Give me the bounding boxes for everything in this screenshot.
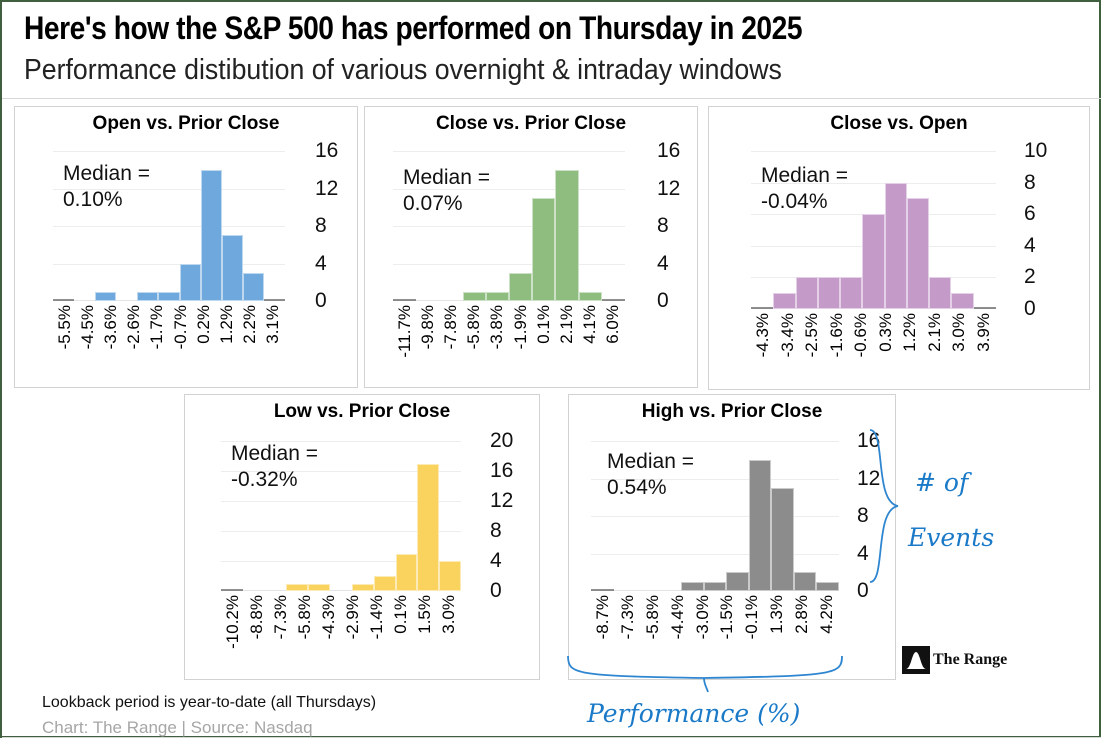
x-tick-label: -7.3% bbox=[271, 595, 291, 639]
bar-slot bbox=[726, 441, 749, 591]
bar bbox=[417, 464, 439, 592]
bar-slot bbox=[771, 441, 794, 591]
y-axis-brace bbox=[868, 426, 904, 586]
bar-slot bbox=[158, 151, 179, 301]
median-annotation: Median = 0.10% bbox=[63, 161, 150, 214]
bar-slot bbox=[532, 151, 555, 301]
y-axis-labels: 0481216 bbox=[315, 151, 359, 301]
y-tick-label: 16 bbox=[315, 139, 338, 163]
x-tick-label: -8.7% bbox=[593, 595, 613, 639]
y-tick-label: 4 bbox=[315, 252, 327, 276]
bar bbox=[532, 198, 555, 301]
bar bbox=[352, 584, 374, 592]
x-tick-label: 0.3% bbox=[876, 313, 896, 352]
x-tick-label: -1.9% bbox=[511, 305, 531, 349]
page-subtitle: Performance distibution of various overn… bbox=[24, 54, 999, 87]
bar-slot bbox=[417, 441, 439, 591]
x-tick-label: -1.5% bbox=[717, 595, 737, 639]
x-tick-label: 1.2% bbox=[900, 313, 920, 352]
brand-logo: The Range bbox=[902, 646, 1007, 674]
x-tick-slot: -8.7% bbox=[591, 595, 616, 639]
x-tick-label: -0.1% bbox=[742, 595, 762, 639]
y-tick-label: 0 bbox=[1024, 297, 1036, 321]
x-tick-slot: -0.1% bbox=[740, 595, 765, 639]
bar-slot bbox=[264, 151, 285, 301]
x-tick-label: 0.1% bbox=[534, 305, 554, 344]
bar-slot bbox=[555, 151, 578, 301]
median-annotation: Median = -0.32% bbox=[231, 441, 318, 494]
x-tick-slot: 0.1% bbox=[532, 305, 555, 344]
x-tick-slot: 2.1% bbox=[555, 305, 578, 344]
x-tick-slot: 3.0% bbox=[947, 313, 972, 352]
y-axis-labels: 048121620 bbox=[490, 441, 534, 591]
x-tick-slot: 3.1% bbox=[262, 305, 285, 344]
bar-slot bbox=[907, 151, 929, 309]
bar bbox=[751, 307, 773, 309]
bar-slot bbox=[374, 441, 396, 591]
x-tick-label: -5.8% bbox=[295, 595, 315, 639]
y-tick-label: 8 bbox=[1024, 171, 1036, 195]
x-tick-slot: 4.1% bbox=[579, 305, 602, 344]
x-tick-label: -2.6% bbox=[124, 305, 144, 349]
bar-slot bbox=[396, 441, 418, 591]
x-tick-label: -3.6% bbox=[101, 305, 121, 349]
bar-slot bbox=[862, 151, 884, 309]
x-tick-label: 2.2% bbox=[240, 305, 260, 344]
bar bbox=[907, 198, 929, 309]
x-tick-label: 1.2% bbox=[217, 305, 237, 344]
x-tick-slot: -2.9% bbox=[341, 595, 365, 639]
infographic-canvas: Here's how the S&P 500 has performed on … bbox=[2, 2, 1099, 736]
y-tick-label: 0 bbox=[857, 579, 869, 603]
bar bbox=[243, 273, 264, 301]
x-tick-slot: 1.2% bbox=[215, 305, 238, 344]
x-tick-slot: 4.2% bbox=[814, 595, 839, 634]
bar-slot bbox=[951, 151, 973, 309]
x-tick-slot: -3.8% bbox=[486, 305, 509, 349]
x-tick-slot: 0.3% bbox=[874, 313, 899, 352]
bar bbox=[53, 299, 74, 301]
x-tick-label: 1.3% bbox=[767, 595, 787, 634]
bar-slot bbox=[222, 151, 243, 301]
y-tick-label: 10 bbox=[1024, 139, 1047, 163]
x-tick-slot: -11.7% bbox=[393, 305, 416, 358]
bar bbox=[591, 589, 614, 591]
x-tick-slot: -8.8% bbox=[245, 595, 269, 639]
bar-slot bbox=[974, 151, 996, 309]
brand-name: The Range bbox=[933, 651, 1007, 669]
x-tick-label: -9.8% bbox=[418, 305, 438, 349]
bar-slot bbox=[579, 151, 602, 301]
chart-panel: Open vs. Prior CloseMedian = 0.10%048121… bbox=[14, 106, 358, 388]
x-tick-label: -4.3% bbox=[319, 595, 339, 639]
x-axis-brace bbox=[564, 654, 854, 694]
x-tick-label: -7.8% bbox=[441, 305, 461, 349]
header-divider bbox=[2, 98, 1101, 99]
bar bbox=[222, 235, 243, 301]
bar-slot bbox=[439, 441, 461, 591]
x-tick-label: 3.0% bbox=[439, 595, 459, 634]
y-axis-annotation-line2: Events bbox=[908, 523, 994, 552]
bar bbox=[951, 293, 973, 309]
x-tick-slot: -7.3% bbox=[616, 595, 641, 639]
x-tick-label: -0.7% bbox=[171, 305, 191, 349]
bar bbox=[704, 582, 727, 591]
x-tick-label: 4.2% bbox=[817, 595, 837, 634]
x-tick-label: -8.8% bbox=[247, 595, 267, 639]
x-tick-label: -3.8% bbox=[487, 305, 507, 349]
x-tick-slot: -3.4% bbox=[776, 313, 801, 357]
x-tick-label: -4.4% bbox=[668, 595, 688, 639]
bar bbox=[486, 292, 509, 301]
chart-title: Open vs. Prior Close bbox=[15, 113, 357, 135]
x-tick-slot: 2.1% bbox=[923, 313, 948, 352]
x-tick-label: -7.3% bbox=[618, 595, 638, 639]
bar-slot bbox=[885, 151, 907, 309]
x-tick-label: 0.2% bbox=[194, 305, 214, 344]
y-axis-labels: 0481216 bbox=[657, 151, 701, 301]
x-tick-label: -5.5% bbox=[55, 305, 75, 349]
bar bbox=[509, 273, 532, 301]
x-tick-slot: -0.7% bbox=[169, 305, 192, 349]
y-tick-label: 0 bbox=[490, 579, 502, 603]
y-tick-label: 0 bbox=[657, 289, 669, 313]
bar bbox=[885, 183, 907, 309]
x-tick-label: -1.6% bbox=[827, 313, 847, 357]
y-tick-label: 8 bbox=[490, 519, 502, 543]
x-tick-slot: -3.0% bbox=[690, 595, 715, 639]
x-tick-label: -5.8% bbox=[464, 305, 484, 349]
x-tick-label: 3.1% bbox=[263, 305, 283, 344]
x-tick-label: -1.7% bbox=[147, 305, 167, 349]
x-tick-slot: -2.5% bbox=[800, 313, 825, 357]
bar bbox=[974, 307, 996, 309]
bar-slot bbox=[929, 151, 951, 309]
x-tick-label: -2.5% bbox=[802, 313, 822, 357]
x-tick-slot: -4.3% bbox=[751, 313, 776, 357]
chart-panel: Close vs. Prior CloseMedian = 0.07%04812… bbox=[364, 106, 698, 388]
bar bbox=[794, 572, 817, 591]
x-tick-slot: 3.0% bbox=[437, 595, 461, 634]
x-tick-slot: -1.7% bbox=[146, 305, 169, 349]
bar-slot bbox=[749, 441, 772, 591]
x-tick-slot: -10.2% bbox=[221, 595, 245, 649]
bar bbox=[286, 584, 308, 592]
bar bbox=[158, 292, 179, 301]
bar bbox=[137, 292, 158, 301]
bar bbox=[749, 460, 772, 591]
x-tick-slot: 6.0% bbox=[602, 305, 625, 344]
x-tick-slot: -4.3% bbox=[317, 595, 341, 639]
y-tick-label: 4 bbox=[1024, 234, 1036, 258]
x-tick-slot: 1.2% bbox=[898, 313, 923, 352]
bar bbox=[929, 277, 951, 309]
x-tick-slot: 0.1% bbox=[389, 595, 413, 634]
bar-slot bbox=[704, 441, 727, 591]
y-tick-label: 12 bbox=[315, 177, 338, 201]
bar bbox=[393, 299, 416, 301]
x-tick-slot: 1.3% bbox=[765, 595, 790, 634]
bar-slot bbox=[180, 151, 201, 301]
x-tick-slot: -7.3% bbox=[269, 595, 293, 639]
y-tick-label: 4 bbox=[657, 252, 669, 276]
x-tick-label: 0.1% bbox=[391, 595, 411, 634]
chart-panel: Close vs. OpenMedian = -0.04%0246810-4.3… bbox=[708, 106, 1090, 390]
bell-curve-icon bbox=[902, 646, 930, 674]
median-annotation: Median = -0.04% bbox=[761, 163, 848, 216]
y-tick-label: 12 bbox=[657, 177, 680, 201]
chart-title: Close vs. Open bbox=[709, 113, 1089, 135]
x-tick-label: -5.8% bbox=[643, 595, 663, 639]
x-tick-slot: -5.5% bbox=[53, 305, 76, 349]
x-tick-slot: 1.5% bbox=[413, 595, 437, 634]
x-tick-label: -10.2% bbox=[223, 595, 243, 649]
x-tick-label: -0.6% bbox=[851, 313, 871, 357]
y-tick-label: 0 bbox=[315, 289, 327, 313]
bar bbox=[308, 584, 330, 592]
x-tick-slot: 3.9% bbox=[972, 313, 997, 352]
y-tick-label: 8 bbox=[857, 504, 869, 528]
source-credit: Chart: The Range | Source: Nasdaq bbox=[42, 718, 313, 738]
x-tick-label: -3.4% bbox=[778, 313, 798, 357]
x-tick-label: 4.1% bbox=[580, 305, 600, 344]
x-tick-label: 1.5% bbox=[415, 595, 435, 634]
bar bbox=[374, 576, 396, 591]
bar bbox=[840, 277, 862, 309]
bar-slot bbox=[352, 441, 374, 591]
bar bbox=[555, 170, 578, 301]
x-tick-label: 2.8% bbox=[792, 595, 812, 634]
y-tick-label: 20 bbox=[490, 429, 513, 453]
bar bbox=[726, 572, 749, 591]
chart-panel: High vs. Prior CloseMedian = 0.54%048121… bbox=[568, 394, 896, 680]
x-tick-label: 2.1% bbox=[557, 305, 577, 344]
y-tick-label: 4 bbox=[857, 542, 869, 566]
y-tick-label: 8 bbox=[657, 214, 669, 238]
bar bbox=[602, 299, 625, 301]
x-tick-slot: -2.6% bbox=[123, 305, 146, 349]
bar bbox=[579, 292, 602, 301]
median-annotation: Median = 0.07% bbox=[403, 165, 490, 218]
bar bbox=[681, 582, 704, 591]
x-tick-label: -4.3% bbox=[753, 313, 773, 357]
bar bbox=[463, 292, 486, 301]
bar-slot bbox=[794, 441, 817, 591]
y-tick-label: 16 bbox=[657, 139, 680, 163]
y-tick-label: 8 bbox=[315, 214, 327, 238]
bar bbox=[180, 264, 201, 302]
bar bbox=[773, 293, 795, 309]
bar-slot bbox=[243, 151, 264, 301]
chart-title: High vs. Prior Close bbox=[569, 401, 895, 423]
x-tick-slot: -1.9% bbox=[509, 305, 532, 349]
x-tick-label: 3.9% bbox=[974, 313, 994, 352]
bar bbox=[439, 561, 461, 591]
page-title: Here's how the S&P 500 has performed on … bbox=[24, 10, 957, 47]
x-tick-label: -4.5% bbox=[78, 305, 98, 349]
bar bbox=[396, 554, 418, 592]
y-tick-label: 12 bbox=[490, 489, 513, 513]
x-tick-slot: -5.8% bbox=[293, 595, 317, 639]
x-tick-slot: 2.2% bbox=[239, 305, 262, 344]
bar bbox=[771, 488, 794, 591]
bar bbox=[221, 589, 243, 591]
median-annotation: Median = 0.54% bbox=[607, 449, 694, 502]
y-tick-label: 6 bbox=[1024, 202, 1036, 226]
x-tick-slot: -3.6% bbox=[99, 305, 122, 349]
bar bbox=[818, 277, 840, 309]
bar bbox=[264, 299, 285, 301]
y-axis-labels: 0246810 bbox=[1024, 151, 1068, 309]
bar-slot bbox=[201, 151, 222, 301]
x-tick-label: -2.9% bbox=[343, 595, 363, 639]
x-tick-slot: -5.8% bbox=[641, 595, 666, 639]
y-tick-label: 2 bbox=[1024, 265, 1036, 289]
x-tick-slot: -7.8% bbox=[439, 305, 462, 349]
bar bbox=[796, 277, 818, 309]
bar-slot bbox=[509, 151, 532, 301]
bar bbox=[201, 170, 222, 301]
x-tick-slot: -5.8% bbox=[463, 305, 486, 349]
x-tick-slot: -1.4% bbox=[365, 595, 389, 639]
x-tick-slot: -4.4% bbox=[665, 595, 690, 639]
bar-slot bbox=[602, 151, 625, 301]
bar-slot bbox=[816, 441, 839, 591]
x-tick-slot: 0.2% bbox=[192, 305, 215, 344]
y-tick-label: 4 bbox=[490, 549, 502, 573]
x-tick-label: 2.1% bbox=[925, 313, 945, 352]
x-tick-slot: -1.5% bbox=[715, 595, 740, 639]
bar bbox=[816, 582, 839, 591]
x-axis-annotation: Performance (%) bbox=[587, 699, 800, 728]
x-tick-slot: -9.8% bbox=[416, 305, 439, 349]
bar-slot bbox=[330, 441, 352, 591]
y-axis-annotation-line1: # of bbox=[915, 468, 968, 497]
x-tick-label: 6.0% bbox=[603, 305, 623, 344]
footnote: Lookback period is year-to-date (all Thu… bbox=[42, 694, 376, 712]
y-tick-label: 16 bbox=[490, 459, 513, 483]
x-tick-label: -1.4% bbox=[367, 595, 387, 639]
bar bbox=[95, 292, 116, 301]
x-tick-slot: -4.5% bbox=[76, 305, 99, 349]
x-tick-slot: -1.6% bbox=[825, 313, 850, 357]
bar bbox=[862, 214, 884, 309]
x-tick-slot: -0.6% bbox=[849, 313, 874, 357]
chart-title: Low vs. Prior Close bbox=[185, 401, 539, 423]
chart-panel: Low vs. Prior CloseMedian = -0.32%048121… bbox=[184, 394, 540, 680]
x-tick-label: 3.0% bbox=[949, 313, 969, 352]
x-tick-slot: 2.8% bbox=[789, 595, 814, 634]
x-tick-label: -3.0% bbox=[693, 595, 713, 639]
chart-title: Close vs. Prior Close bbox=[365, 113, 697, 135]
x-tick-label: -11.7% bbox=[395, 305, 415, 358]
